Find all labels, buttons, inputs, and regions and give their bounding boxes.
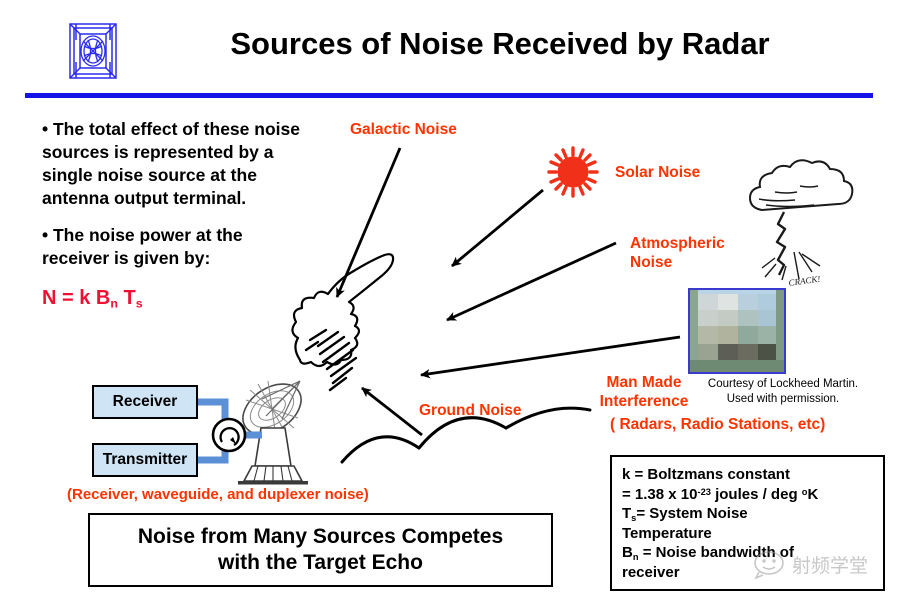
constant-k-label: k = Boltzmans constant [622, 465, 883, 485]
k-value-lead: = 1.38 x 10 [622, 486, 697, 503]
lockheed-knot-logo-icon [62, 18, 124, 84]
label-atmospheric-line1: Atmospheric [630, 234, 725, 253]
lightning-rays [762, 252, 820, 280]
circulator-icon [213, 419, 245, 451]
label-ground-noise: Ground Noise [419, 401, 521, 420]
label-radars-radio-stations: ( Radars, Radio Stations, etc) [610, 415, 825, 434]
label-atmospheric-line2: Noise [630, 253, 725, 272]
ts-lead: T [622, 505, 631, 522]
constant-ts-label: Ts= System Noise [622, 504, 883, 524]
constant-k-value: = 1.38 x 10-23 joules / deg oK [622, 485, 883, 505]
courtesy-line1: Courtesy of Lockheed Martin. [683, 377, 883, 392]
label-atmospheric-noise: Atmospheric Noise [630, 234, 725, 273]
sun-icon [549, 148, 597, 196]
courtesy-line2: Used with permission. [683, 392, 883, 407]
label-receiver-waveguide-duplexer: (Receiver, waveguide, and duplexer noise… [67, 486, 369, 505]
label-galactic-noise: Galactic Noise [350, 120, 457, 139]
radome-photo [688, 288, 786, 374]
bullet-item-1: • The total effect of these noise source… [42, 118, 312, 210]
k-value-units: joules / deg [711, 486, 802, 503]
label-man-made-interference: Man Made Interference [592, 373, 696, 412]
arrow-ground [362, 388, 422, 435]
kelvin-symbol: K [807, 486, 818, 503]
crack-text: CRACK! [788, 274, 821, 288]
arrow-manmade [421, 337, 680, 375]
formula-lead: N = k B [42, 287, 110, 309]
page-title: Sources of Noise Received by Radar [170, 26, 830, 62]
label-solar-noise: Solar Noise [615, 163, 700, 182]
bullet-item-2: • The noise power at the receiver is giv… [42, 224, 312, 270]
courtesy-note: Courtesy of Lockheed Martin. Used with p… [683, 377, 883, 406]
arrow-atmospheric [447, 243, 616, 320]
waveguide-lines [198, 402, 262, 460]
noise-power-formula: N = k Bn Ts [42, 285, 312, 312]
summary-line1: Noise from Many Sources Competes [138, 524, 503, 550]
arrow-galactic [337, 148, 400, 297]
receiver-block[interactable]: Receiver [92, 385, 198, 419]
lightning-bolt-icon [777, 212, 785, 275]
formula-sub-n: n [110, 296, 118, 310]
cloud-icon [750, 160, 852, 210]
radar-dish-antenna-icon [234, 374, 311, 485]
watermark-text: 射频学堂 [792, 555, 868, 577]
cloud-detail-lines [759, 186, 818, 207]
summary-line2: with the Target Echo [138, 550, 503, 576]
constant-ts-cont: Temperature [622, 524, 883, 544]
bn-lead: B [622, 544, 633, 561]
beam-hatching [306, 330, 356, 390]
title-divider [25, 93, 873, 98]
slide-root: Sources of Noise Received by Radar • The… [0, 0, 897, 598]
formula-sub-s: s [136, 296, 143, 310]
formula-mid: T [118, 287, 136, 309]
bullet-text-block: • The total effect of these noise source… [42, 118, 312, 311]
arrow-solar [452, 190, 543, 266]
wechat-watermark-icon: 射频学堂 [752, 547, 882, 581]
ts-tail: = System Noise [636, 505, 747, 522]
k-value-exponent: -23 [697, 486, 710, 496]
summary-box: Noise from Many Sources Competes with th… [88, 513, 553, 587]
transmitter-block[interactable]: Transmitter [92, 443, 198, 477]
